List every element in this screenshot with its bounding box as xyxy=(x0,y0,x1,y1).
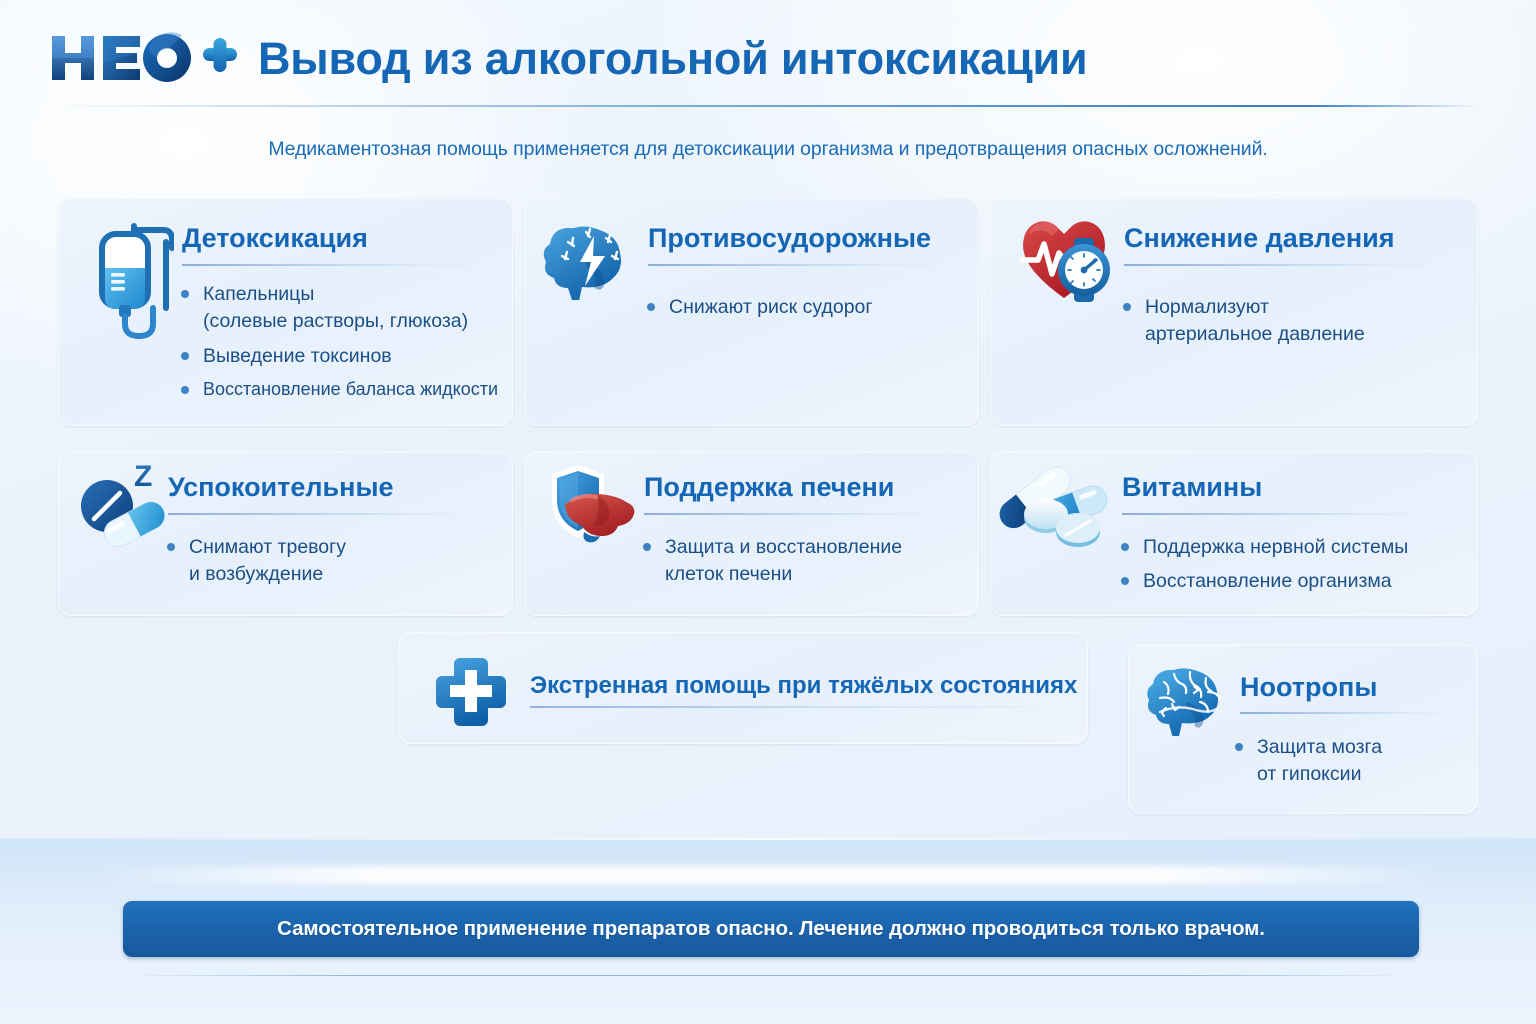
list-item: Восстановление организма xyxy=(1118,568,1468,595)
pills-capsules-icon xyxy=(998,462,1110,550)
card-pressure-bullets: Нормализуют артериальное давление xyxy=(1120,294,1460,356)
card-vitamins-bullets: Поддержка нервной системы Восстановление… xyxy=(1118,534,1468,603)
card-vitamins-title: Витамины xyxy=(1122,472,1262,503)
sleeping-pills-icon: Z xyxy=(72,458,172,550)
bullet-subline: от гипоксии xyxy=(1257,761,1462,788)
bullet-line: Поддержка нервной системы xyxy=(1143,536,1408,558)
card-anticonvulsants-bullets: Снижают риск судорог xyxy=(644,294,964,328)
list-item: Поддержка нервной системы xyxy=(1118,534,1468,561)
heart-pressure-gauge-icon xyxy=(1016,210,1120,310)
bullet-line: Нормализуют xyxy=(1145,296,1269,318)
bullet-line: Снижают риск судорог xyxy=(669,296,873,318)
list-item: Капельницы (солевые растворы, глюкоза) xyxy=(178,281,508,336)
bullet-subline: артериальное давление xyxy=(1145,321,1460,348)
list-item: Нормализуют артериальное давление xyxy=(1120,294,1460,349)
bullet-line: Капельницы xyxy=(203,283,314,305)
card-sedatives-divider xyxy=(168,513,494,515)
header-divider xyxy=(56,105,1480,107)
bullet-line: Снимают тревогу xyxy=(189,536,346,558)
neo-plus-logo xyxy=(48,30,238,86)
list-item: Выведение токсинов xyxy=(178,343,508,370)
card-liver-bullets: Защита и восстановление клеток печени xyxy=(640,534,970,596)
card-detox-bullets: Капельницы (солевые растворы, глюкоза) В… xyxy=(178,281,508,409)
list-item: Защита мозга от гипоксии xyxy=(1232,734,1462,789)
liver-shield-icon xyxy=(538,460,642,552)
card-liver-title: Поддержка печени xyxy=(644,472,894,503)
bullet-line: Восстановление баланса жидкости xyxy=(203,379,498,399)
brain-icon xyxy=(1146,660,1238,736)
card-liver-divider xyxy=(644,513,960,515)
subtitle: Медикаментозная помощь применяется для д… xyxy=(0,138,1536,161)
card-vitamins-divider xyxy=(1122,513,1452,515)
card-nootropics-title: Ноотропы xyxy=(1240,672,1377,703)
warning-banner: Самостоятельное применение препаратов оп… xyxy=(123,901,1419,957)
bullet-subline: клеток печени xyxy=(665,561,970,588)
brain-lightning-icon xyxy=(542,216,642,300)
card-detox-divider xyxy=(182,264,494,266)
card-nootropics-bullets: Защита мозга от гипоксии xyxy=(1232,734,1462,796)
card-anticonvulsants-divider xyxy=(648,264,960,266)
warning-text: Самостоятельное применение препаратов оп… xyxy=(277,917,1265,941)
bullet-subline: (солевые растворы, глюкоза) xyxy=(203,308,508,335)
card-sedatives-title: Успокоительные xyxy=(168,472,394,503)
emergency-divider xyxy=(530,706,1075,708)
list-item: Снижают риск судорог xyxy=(644,294,964,321)
svg-text:Z: Z xyxy=(134,460,152,493)
card-pressure-title: Снижение давления xyxy=(1124,223,1395,254)
emergency-label: Экстренная помощь при тяжёлых состояниях xyxy=(530,672,1077,700)
medical-cross-icon xyxy=(434,654,514,726)
card-pressure-divider xyxy=(1124,264,1454,266)
bullet-subline: и возбуждение xyxy=(189,561,494,588)
card-nootropics-divider xyxy=(1240,712,1460,714)
bullet-line: Восстановление организма xyxy=(1143,570,1392,592)
iv-drip-icon xyxy=(78,212,174,340)
card-detox-title: Детоксикация xyxy=(182,223,368,254)
bullet-line: Защита мозга xyxy=(1257,736,1382,758)
card-anticonvulsants-title: Противосудорожные xyxy=(648,223,931,254)
card-sedatives-bullets: Снимают тревогу и возбуждение xyxy=(164,534,494,596)
list-item: Защита и восстановление клеток печени xyxy=(640,534,970,589)
bullet-line: Защита и восстановление xyxy=(665,536,902,558)
list-item: Восстановление баланса жидкости xyxy=(178,377,508,402)
list-item: Снимают тревогу и возбуждение xyxy=(164,534,494,589)
bottom-sheen xyxy=(90,866,1446,884)
bottom-hairline xyxy=(120,975,1416,976)
header: Вывод из алкогольной интоксикации xyxy=(0,0,1536,112)
bullet-line: Выведение токсинов xyxy=(203,345,392,367)
page-title: Вывод из алкогольной интоксикации xyxy=(258,33,1087,85)
